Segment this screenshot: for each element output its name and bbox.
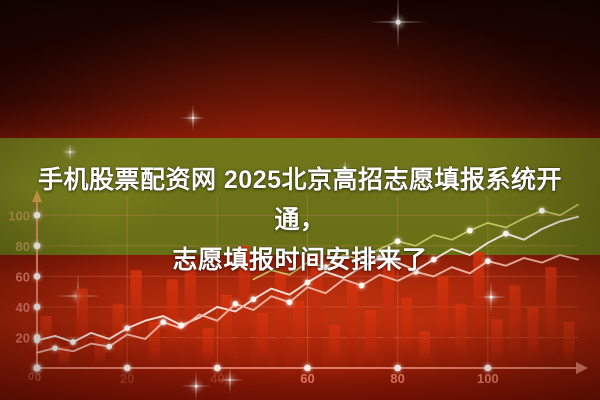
bar xyxy=(131,270,142,368)
bar xyxy=(527,307,538,368)
y-tick-dot xyxy=(34,304,41,311)
x-tick-label: 60 xyxy=(300,371,314,386)
bar xyxy=(365,310,376,368)
bar xyxy=(293,301,304,368)
bar xyxy=(275,273,286,368)
bar xyxy=(491,319,502,368)
data-point-marker xyxy=(160,319,166,325)
bar xyxy=(419,331,430,368)
bar xyxy=(257,313,268,368)
data-point-marker xyxy=(232,301,238,307)
bar xyxy=(437,276,448,368)
headline-line-1: 手机股票配资网 2025北京高招志愿填报系统开通， xyxy=(24,160,576,240)
bar xyxy=(203,328,214,368)
data-point-marker xyxy=(34,338,40,344)
headline-line-2: 志愿填报时间安排来了 xyxy=(24,240,576,280)
bar xyxy=(563,322,574,368)
headline: 手机股票配资网 2025北京高招志愿填报系统开通， 志愿填报时间安排来了 xyxy=(24,160,576,280)
bar xyxy=(329,325,340,368)
bar xyxy=(401,298,412,368)
y-tick-label: 20 xyxy=(16,330,30,345)
data-point-marker xyxy=(106,344,112,350)
bar xyxy=(347,282,358,368)
y-tick-label: 40 xyxy=(16,300,30,315)
bar xyxy=(40,316,51,368)
bar xyxy=(221,295,232,368)
x-tick-label: 0 xyxy=(35,372,41,384)
data-point-marker xyxy=(124,325,130,331)
x-axis-arrow xyxy=(576,362,588,374)
data-point-marker xyxy=(52,345,58,351)
data-point-marker xyxy=(287,299,293,305)
bar xyxy=(509,286,520,368)
data-point-marker xyxy=(178,322,184,328)
bar xyxy=(545,267,556,368)
x-tick-label: 80 xyxy=(390,371,404,386)
bar xyxy=(455,304,466,368)
x-tick-label: 100 xyxy=(477,371,499,386)
data-point-marker xyxy=(305,280,311,286)
x-tick-label: 40 xyxy=(210,371,224,386)
x-tick-label: 20 xyxy=(120,371,134,386)
bar xyxy=(149,322,160,368)
y-tick-dot xyxy=(34,365,41,372)
y-tick-label: 0 xyxy=(28,371,34,383)
data-point-marker xyxy=(251,296,257,302)
bar xyxy=(95,334,106,368)
promo-banner: 020406080100020406080100 手机股票配资网 2025北京高… xyxy=(0,0,600,400)
data-point-marker xyxy=(359,283,365,289)
bar xyxy=(76,289,87,368)
data-point-marker xyxy=(70,339,76,345)
